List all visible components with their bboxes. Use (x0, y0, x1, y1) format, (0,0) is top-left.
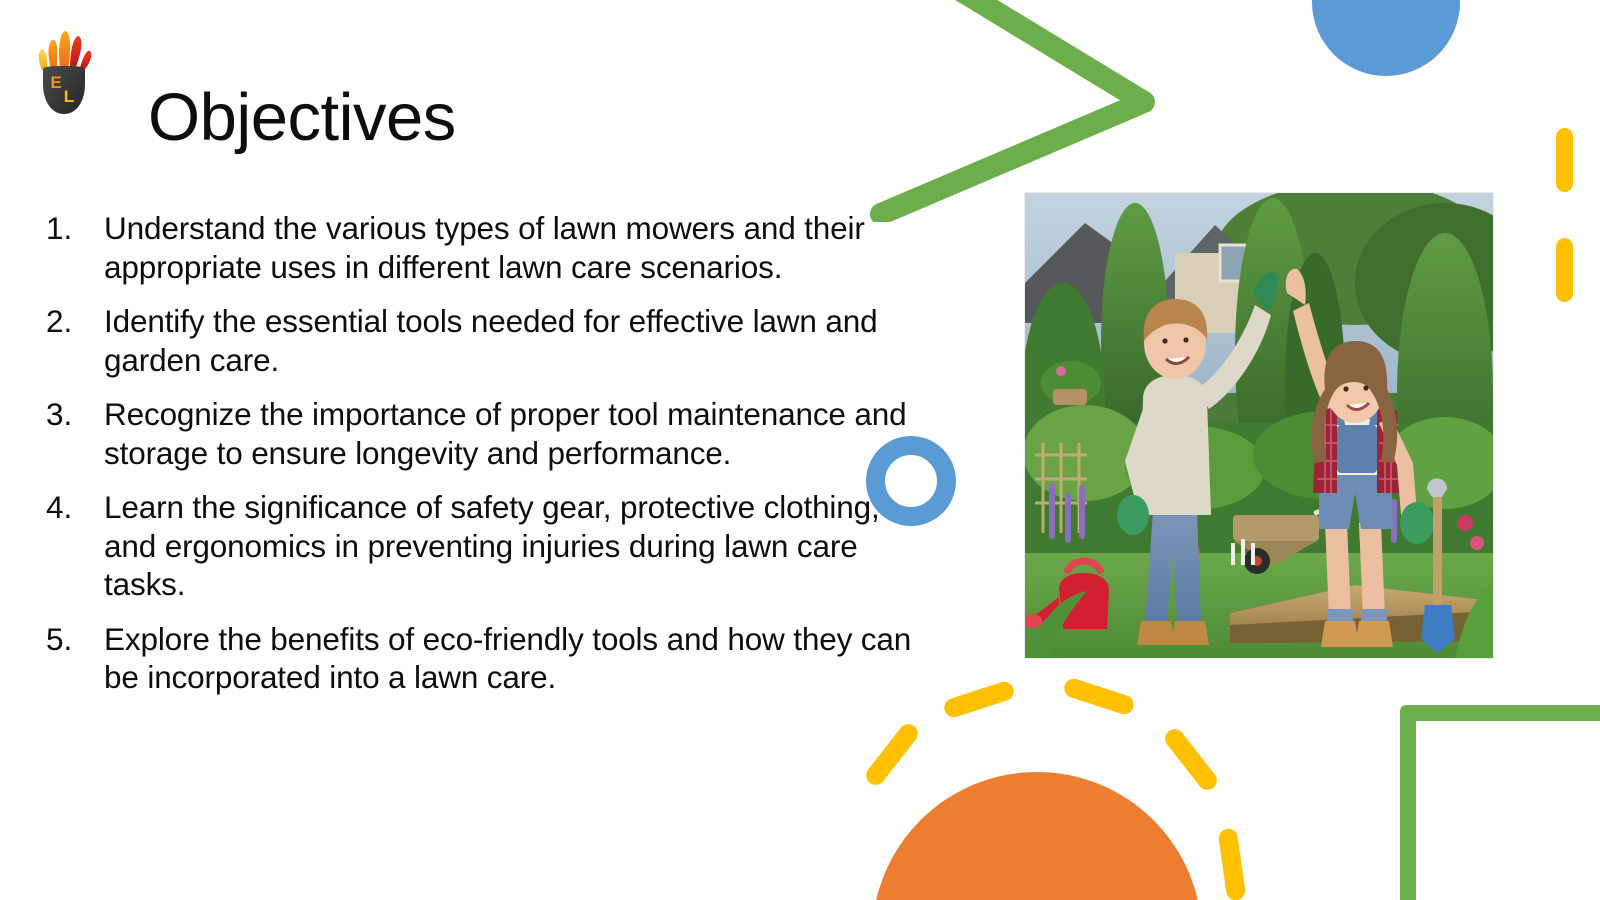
objectives-list: 1. Understand the various types of lawn … (38, 209, 918, 713)
list-item-number: 4. (38, 488, 104, 527)
list-item-text: Understand the various types of lawn mow… (104, 209, 918, 286)
list-item: 3. Recognize the importance of proper to… (38, 395, 918, 472)
slide-objectives: E L Objectives 1. Understand the various… (0, 0, 1600, 900)
logo-letter-l: L (64, 87, 74, 106)
sun-ray-4 (1218, 828, 1247, 900)
yellow-dash-lower (1556, 238, 1573, 302)
list-item-number: 2. (38, 302, 104, 341)
list-item-text: Learn the significance of safety gear, p… (104, 488, 918, 604)
el-flame-bulb-logo: E L (28, 22, 100, 120)
green-triangle-outline (856, 0, 1156, 222)
sun-ray-2 (1062, 676, 1136, 716)
list-item-text: Identify the essential tools needed for … (104, 302, 918, 379)
sun-ray-5 (862, 720, 921, 788)
blue-semicircle (1312, 0, 1460, 76)
teens-high-five-garden-photo (1025, 193, 1493, 658)
orange-sun-semicircle (872, 772, 1202, 900)
list-item-number: 3. (38, 395, 104, 434)
page-title: Objectives (148, 80, 456, 155)
sun-ray-1 (942, 679, 1016, 719)
list-item: 4. Learn the significance of safety gear… (38, 488, 918, 604)
list-item: 2. Identify the essential tools needed f… (38, 302, 918, 379)
yellow-dash-upper (1556, 128, 1573, 192)
list-item-text: Explore the benefits of eco-friendly too… (104, 620, 918, 697)
green-rectangle-outline (1400, 705, 1600, 900)
list-item: 5. Explore the benefits of eco-friendly … (38, 620, 918, 697)
list-item-number: 5. (38, 620, 104, 659)
list-item-text: Recognize the importance of proper tool … (104, 395, 918, 472)
logo-letter-e: E (50, 73, 61, 92)
sun-ray-3 (1161, 725, 1220, 793)
list-item-number: 1. (38, 209, 104, 248)
list-item: 1. Understand the various types of lawn … (38, 209, 918, 286)
